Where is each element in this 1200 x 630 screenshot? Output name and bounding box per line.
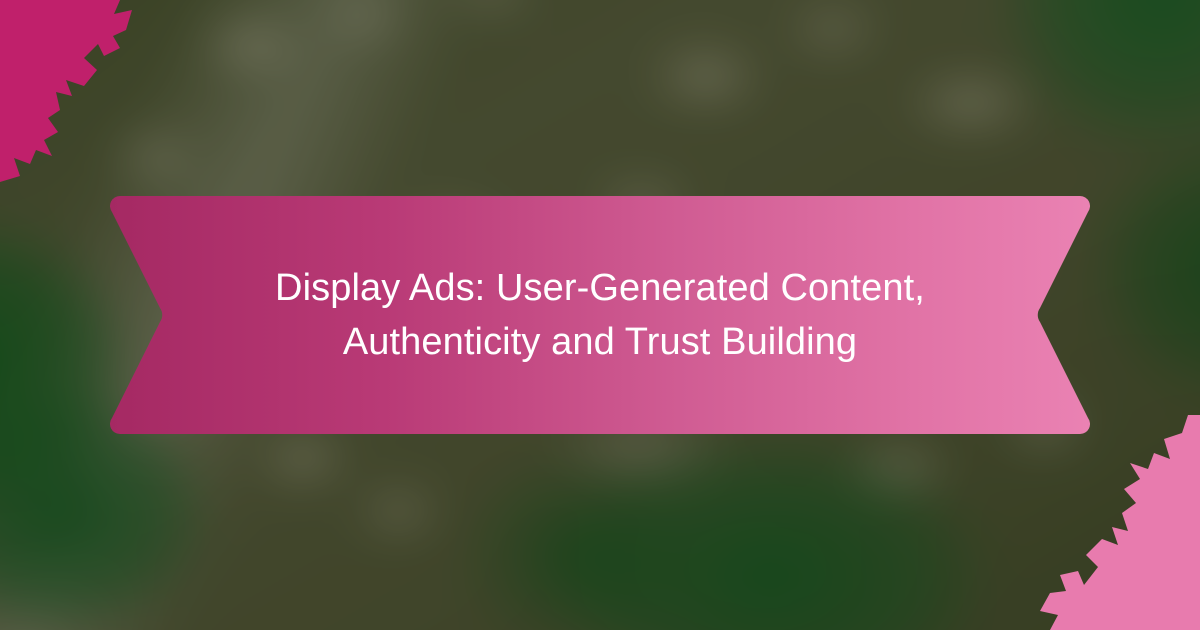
- torn-edge-path-top-left: [0, 0, 132, 182]
- torn-edge-path-bottom-right: [1040, 415, 1200, 630]
- torn-edge-shape-bottom-right: [1010, 415, 1200, 630]
- page-title: Display Ads: User-Generated Content, Aut…: [110, 196, 1090, 434]
- title-ribbon-banner: Display Ads: User-Generated Content, Aut…: [110, 196, 1090, 434]
- torn-edge-shape-top-left: [0, 0, 190, 205]
- title-line-2: Authenticity and Trust Building: [343, 315, 857, 369]
- share-card: Display Ads: User-Generated Content, Aut…: [0, 0, 1200, 630]
- title-line-1: Display Ads: User-Generated Content,: [275, 261, 925, 315]
